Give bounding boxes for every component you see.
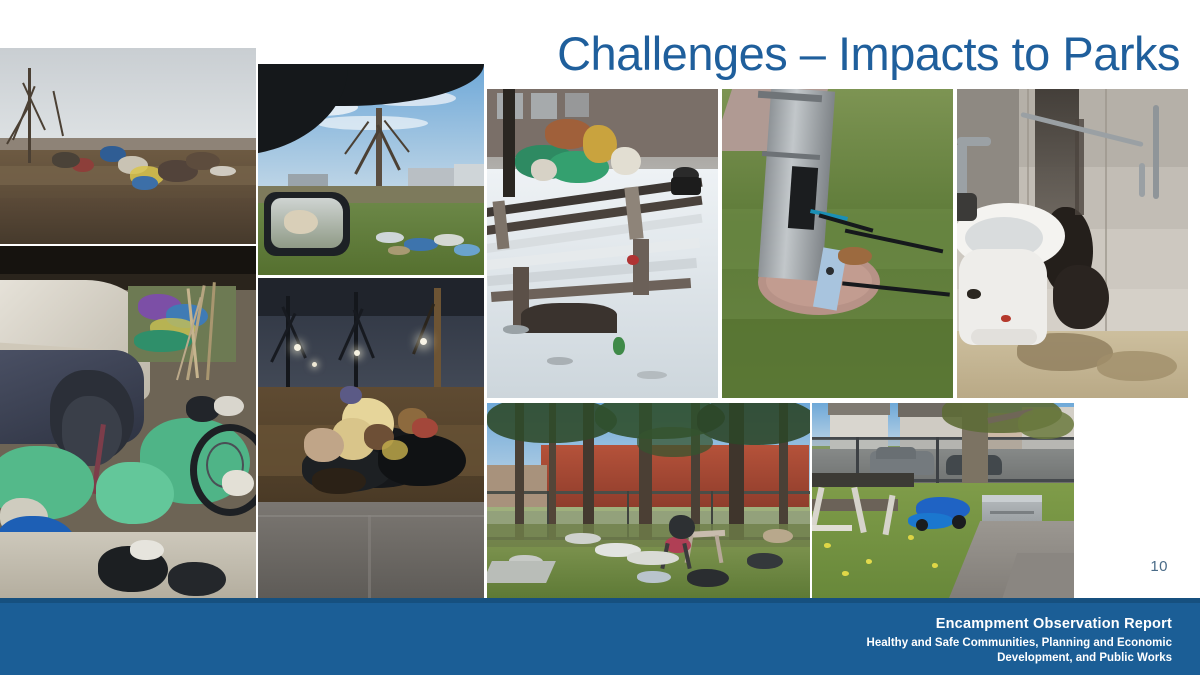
- photo-picnic-area-belongings: [812, 403, 1074, 598]
- page-title: Challenges – Impacts to Parks: [480, 26, 1180, 81]
- photo-wooded-site-litter: [487, 403, 810, 598]
- footer-departments: Healthy and Safe Communities, Planning a…: [832, 636, 1172, 665]
- photo-tampered-light-pole: [722, 89, 953, 398]
- page-number: 10: [1150, 558, 1168, 575]
- photo-garbage-bag-pile-night: [258, 278, 484, 598]
- photo-damaged-washroom: [957, 89, 1188, 398]
- photo-park-litter-from-vehicle: [258, 64, 484, 275]
- footer-report-title: Encampment Observation Report: [832, 615, 1172, 633]
- photo-snow-covered-bench: [487, 89, 718, 398]
- footer-bar: Hamilton Encampment Observation Report H…: [0, 598, 1200, 675]
- photo-underpass-encampment: [0, 246, 256, 598]
- photo-encampment-debris-field: [0, 48, 256, 244]
- presentation-slide: Challenges – Impacts to Parks 10 Hamilto…: [0, 0, 1200, 675]
- footer-text-block: Encampment Observation Report Healthy an…: [832, 615, 1172, 665]
